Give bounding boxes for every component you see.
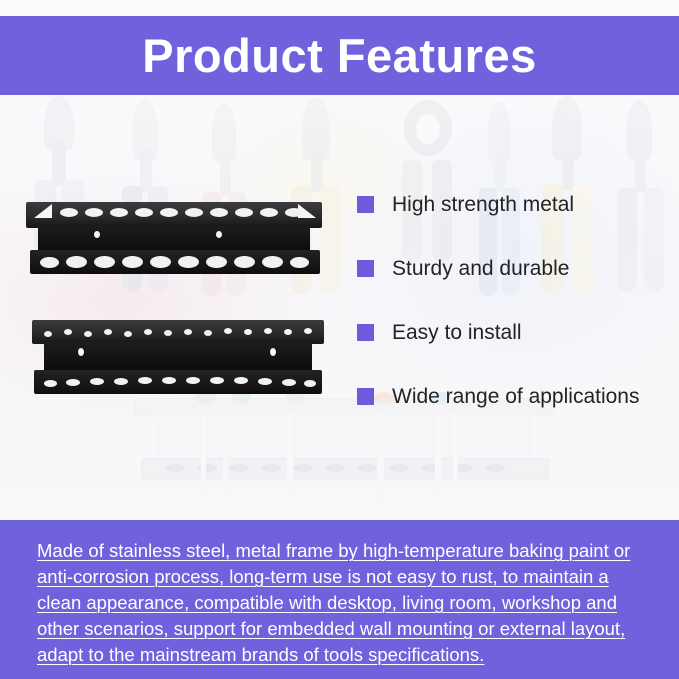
feature-label: High strength metal [392,194,574,215]
page-title: Product Features [142,32,537,79]
bullet-square-icon [357,388,374,405]
feature-label: Easy to install [392,322,522,343]
feature-item-wide-range-of-applications: Wide range of applications [357,364,657,428]
feature-list: High strength metal Sturdy and durable E… [357,172,657,428]
product-features-infographic: Product Features [0,0,679,679]
header-banner: Product Features [0,16,679,95]
product-image-upper-rack [14,198,334,280]
product-image-lower-rack [22,318,334,396]
bullet-square-icon [357,260,374,277]
feature-item-easy-to-install: Easy to install [357,300,657,364]
description-banner: Made of stainless steel, metal frame by … [0,520,679,679]
description-text: Made of stainless steel, metal frame by … [37,538,647,668]
feature-label: Sturdy and durable [392,258,569,279]
bullet-square-icon [357,196,374,213]
feature-label: Wide range of applications [392,386,639,407]
feature-item-high-strength-metal: High strength metal [357,172,657,236]
feature-item-sturdy-and-durable: Sturdy and durable [357,236,657,300]
bullet-square-icon [357,324,374,341]
